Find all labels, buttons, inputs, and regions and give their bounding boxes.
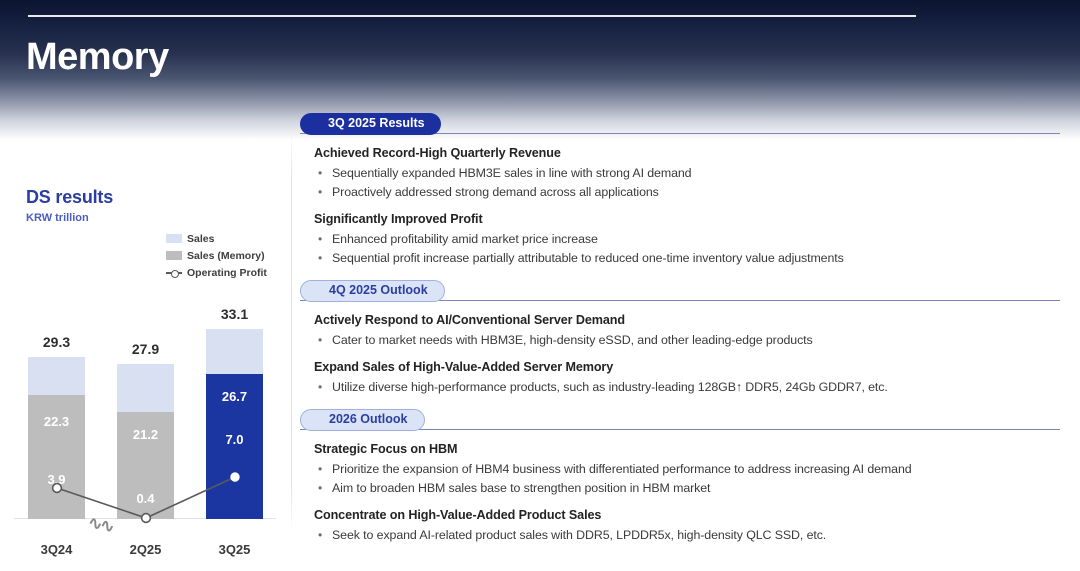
bullet-list: Seek to expand AI-related product sales … [300,526,1068,545]
content-panel: 3Q 2025 Results Achieved Record-High Qua… [300,113,1068,557]
legend-item-sales-memory: Sales (Memory) [166,248,267,263]
legend-label-sales-memory: Sales (Memory) [187,250,265,262]
content-group: Expand Sales of High-Value-Added Server … [300,360,1068,397]
section-pill-2026-outlook: 2026 Outlook [300,409,425,431]
group-subhead: Strategic Focus on HBM [314,442,1068,456]
section-3q-2025-results: 3Q 2025 Results Achieved Record-High Qua… [300,113,1068,268]
legend-label-operating-profit: Operating Profit [187,267,267,279]
list-item: Prioritize the expansion of HBM4 busines… [300,460,1068,479]
content-group: Achieved Record-High Quarterly Revenue S… [300,146,1068,202]
bullet-list: Enhanced profitability amid market price… [300,230,1068,268]
chart-panel: DS results KRW trillion Sales Sales (Mem… [0,170,292,571]
group-subhead: Concentrate on High-Value-Added Product … [314,508,1068,522]
section-header: 3Q 2025 Results [300,113,1068,137]
group-subhead: Significantly Improved Profit [314,212,1068,226]
legend-label-sales: Sales [187,233,214,245]
chart-title: DS results [26,187,113,208]
list-item: Cater to market needs with HBM3E, high-d… [300,331,1068,350]
chart-subtitle: KRW trillion [26,212,89,224]
list-item: Sequentially expanded HBM3E sales in lin… [300,164,1068,183]
section-4q-2025-outlook: 4Q 2025 Outlook Actively Respond to AI/C… [300,280,1068,397]
bullet-list: Utilize diverse high-performance product… [300,378,1068,397]
content-group: Actively Respond to AI/Conventional Serv… [300,313,1068,350]
content-group: Strategic Focus on HBM Prioritize the ex… [300,442,1068,498]
operating-profit-line [0,300,292,571]
panel-divider [291,132,292,532]
section-2026-outlook: 2026 Outlook Strategic Focus on HBM Prio… [300,409,1068,545]
section-header: 2026 Outlook [300,409,1068,433]
section-pill-3q-2025-results: 3Q 2025 Results [300,113,441,135]
group-subhead: Actively Respond to AI/Conventional Serv… [314,313,1068,327]
profit-marker-3q24 [53,484,62,493]
bullet-list: Cater to market needs with HBM3E, high-d… [300,331,1068,350]
content-group: Significantly Improved Profit Enhanced p… [300,212,1068,268]
group-subhead: Expand Sales of High-Value-Added Server … [314,360,1068,374]
list-item: Proactively addressed strong demand acro… [300,183,1068,202]
bullet-list: Sequentially expanded HBM3E sales in lin… [300,164,1068,202]
legend-item-sales: Sales [166,231,267,246]
page-title: Memory [26,38,169,76]
profit-marker-3q25 [231,473,239,481]
header-rule [28,15,916,17]
chart-plot-area: 29.3 22.3 3.9 3Q24 27.9 21.2 0.4 2Q25 33… [0,300,292,571]
list-item: Enhanced profitability amid market price… [300,230,1068,249]
profit-marker-2q25 [142,514,151,523]
list-item: Sequential profit increase partially att… [300,249,1068,268]
legend-swatch-sales-icon [166,234,182,243]
list-item: Utilize diverse high-performance product… [300,378,1068,397]
slide-root: Memory DS results KRW trillion Sales Sal… [0,0,1080,571]
section-header: 4Q 2025 Outlook [300,280,1068,304]
chart-legend: Sales Sales (Memory) Operating Profit [166,231,267,282]
legend-item-operating-profit: Operating Profit [166,265,267,280]
list-item: Aim to broaden HBM sales base to strengt… [300,479,1068,498]
group-subhead: Achieved Record-High Quarterly Revenue [314,146,1068,160]
legend-swatch-memory-icon [166,251,182,260]
legend-line-marker-icon [166,268,182,277]
bullet-list: Prioritize the expansion of HBM4 busines… [300,460,1068,498]
content-group: Concentrate on High-Value-Added Product … [300,508,1068,545]
list-item: Seek to expand AI-related product sales … [300,526,1068,545]
section-pill-4q-2025-outlook: 4Q 2025 Outlook [300,280,445,302]
